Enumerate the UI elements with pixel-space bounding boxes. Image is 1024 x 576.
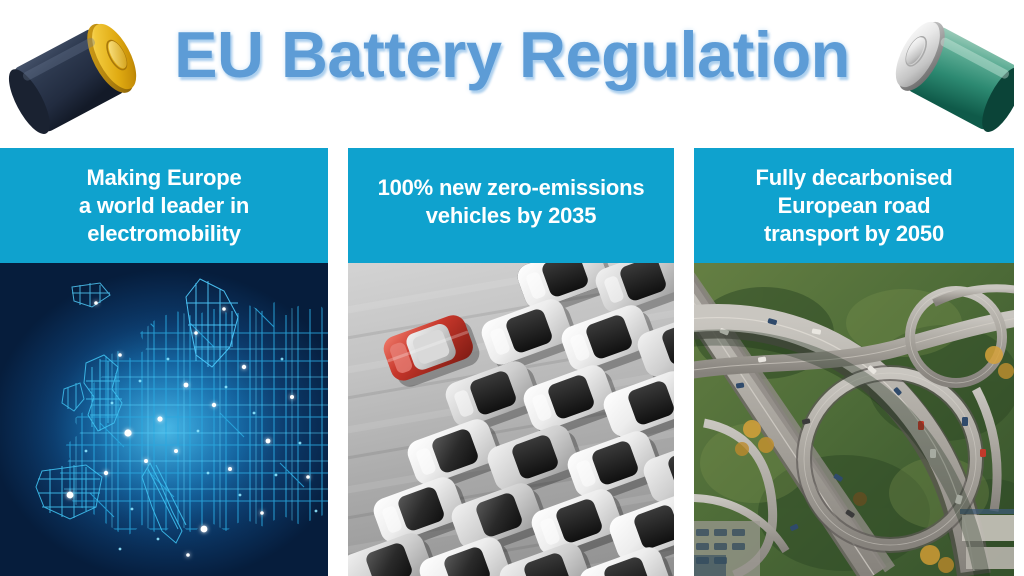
panel-3-caption-line-2: European road <box>756 192 953 220</box>
panel-2-caption-line-1: 100% new zero-emissions <box>378 174 645 202</box>
panel-1-caption-line-3: electromobility <box>79 220 249 248</box>
header-banner: EU Battery Regulation <box>0 0 1024 148</box>
panel-1-caption-line-1: Making Europe <box>79 164 249 192</box>
highway-interchange-aerial-image <box>694 263 1014 576</box>
right-page-margin <box>1014 0 1024 576</box>
battery-cell-teal-icon <box>858 4 1024 134</box>
car-fleet-aerial-image <box>348 263 674 576</box>
panel-3-caption: Fully decarbonised European road transpo… <box>694 148 1014 263</box>
panel-1-caption-line-2: a world leader in <box>79 192 249 220</box>
europe-circuit-map-image <box>0 263 328 576</box>
panel-3-caption-line-3: transport by 2050 <box>756 220 953 248</box>
panel-electromobility[interactable]: Making Europe a world leader in electrom… <box>0 148 328 576</box>
panel-decarbonised-transport[interactable]: Fully decarbonised European road transpo… <box>694 148 1014 576</box>
panel-1-caption: Making Europe a world leader in electrom… <box>0 148 328 263</box>
panel-3-caption-line-1: Fully decarbonised <box>756 164 953 192</box>
panel-zero-emissions[interactable]: 100% new zero-emissions vehicles by 2035 <box>348 148 674 576</box>
panel-2-caption: 100% new zero-emissions vehicles by 2035 <box>348 148 674 263</box>
panel-row: Making Europe a world leader in electrom… <box>0 148 1024 576</box>
panel-2-caption-line-2: vehicles by 2035 <box>378 202 645 230</box>
